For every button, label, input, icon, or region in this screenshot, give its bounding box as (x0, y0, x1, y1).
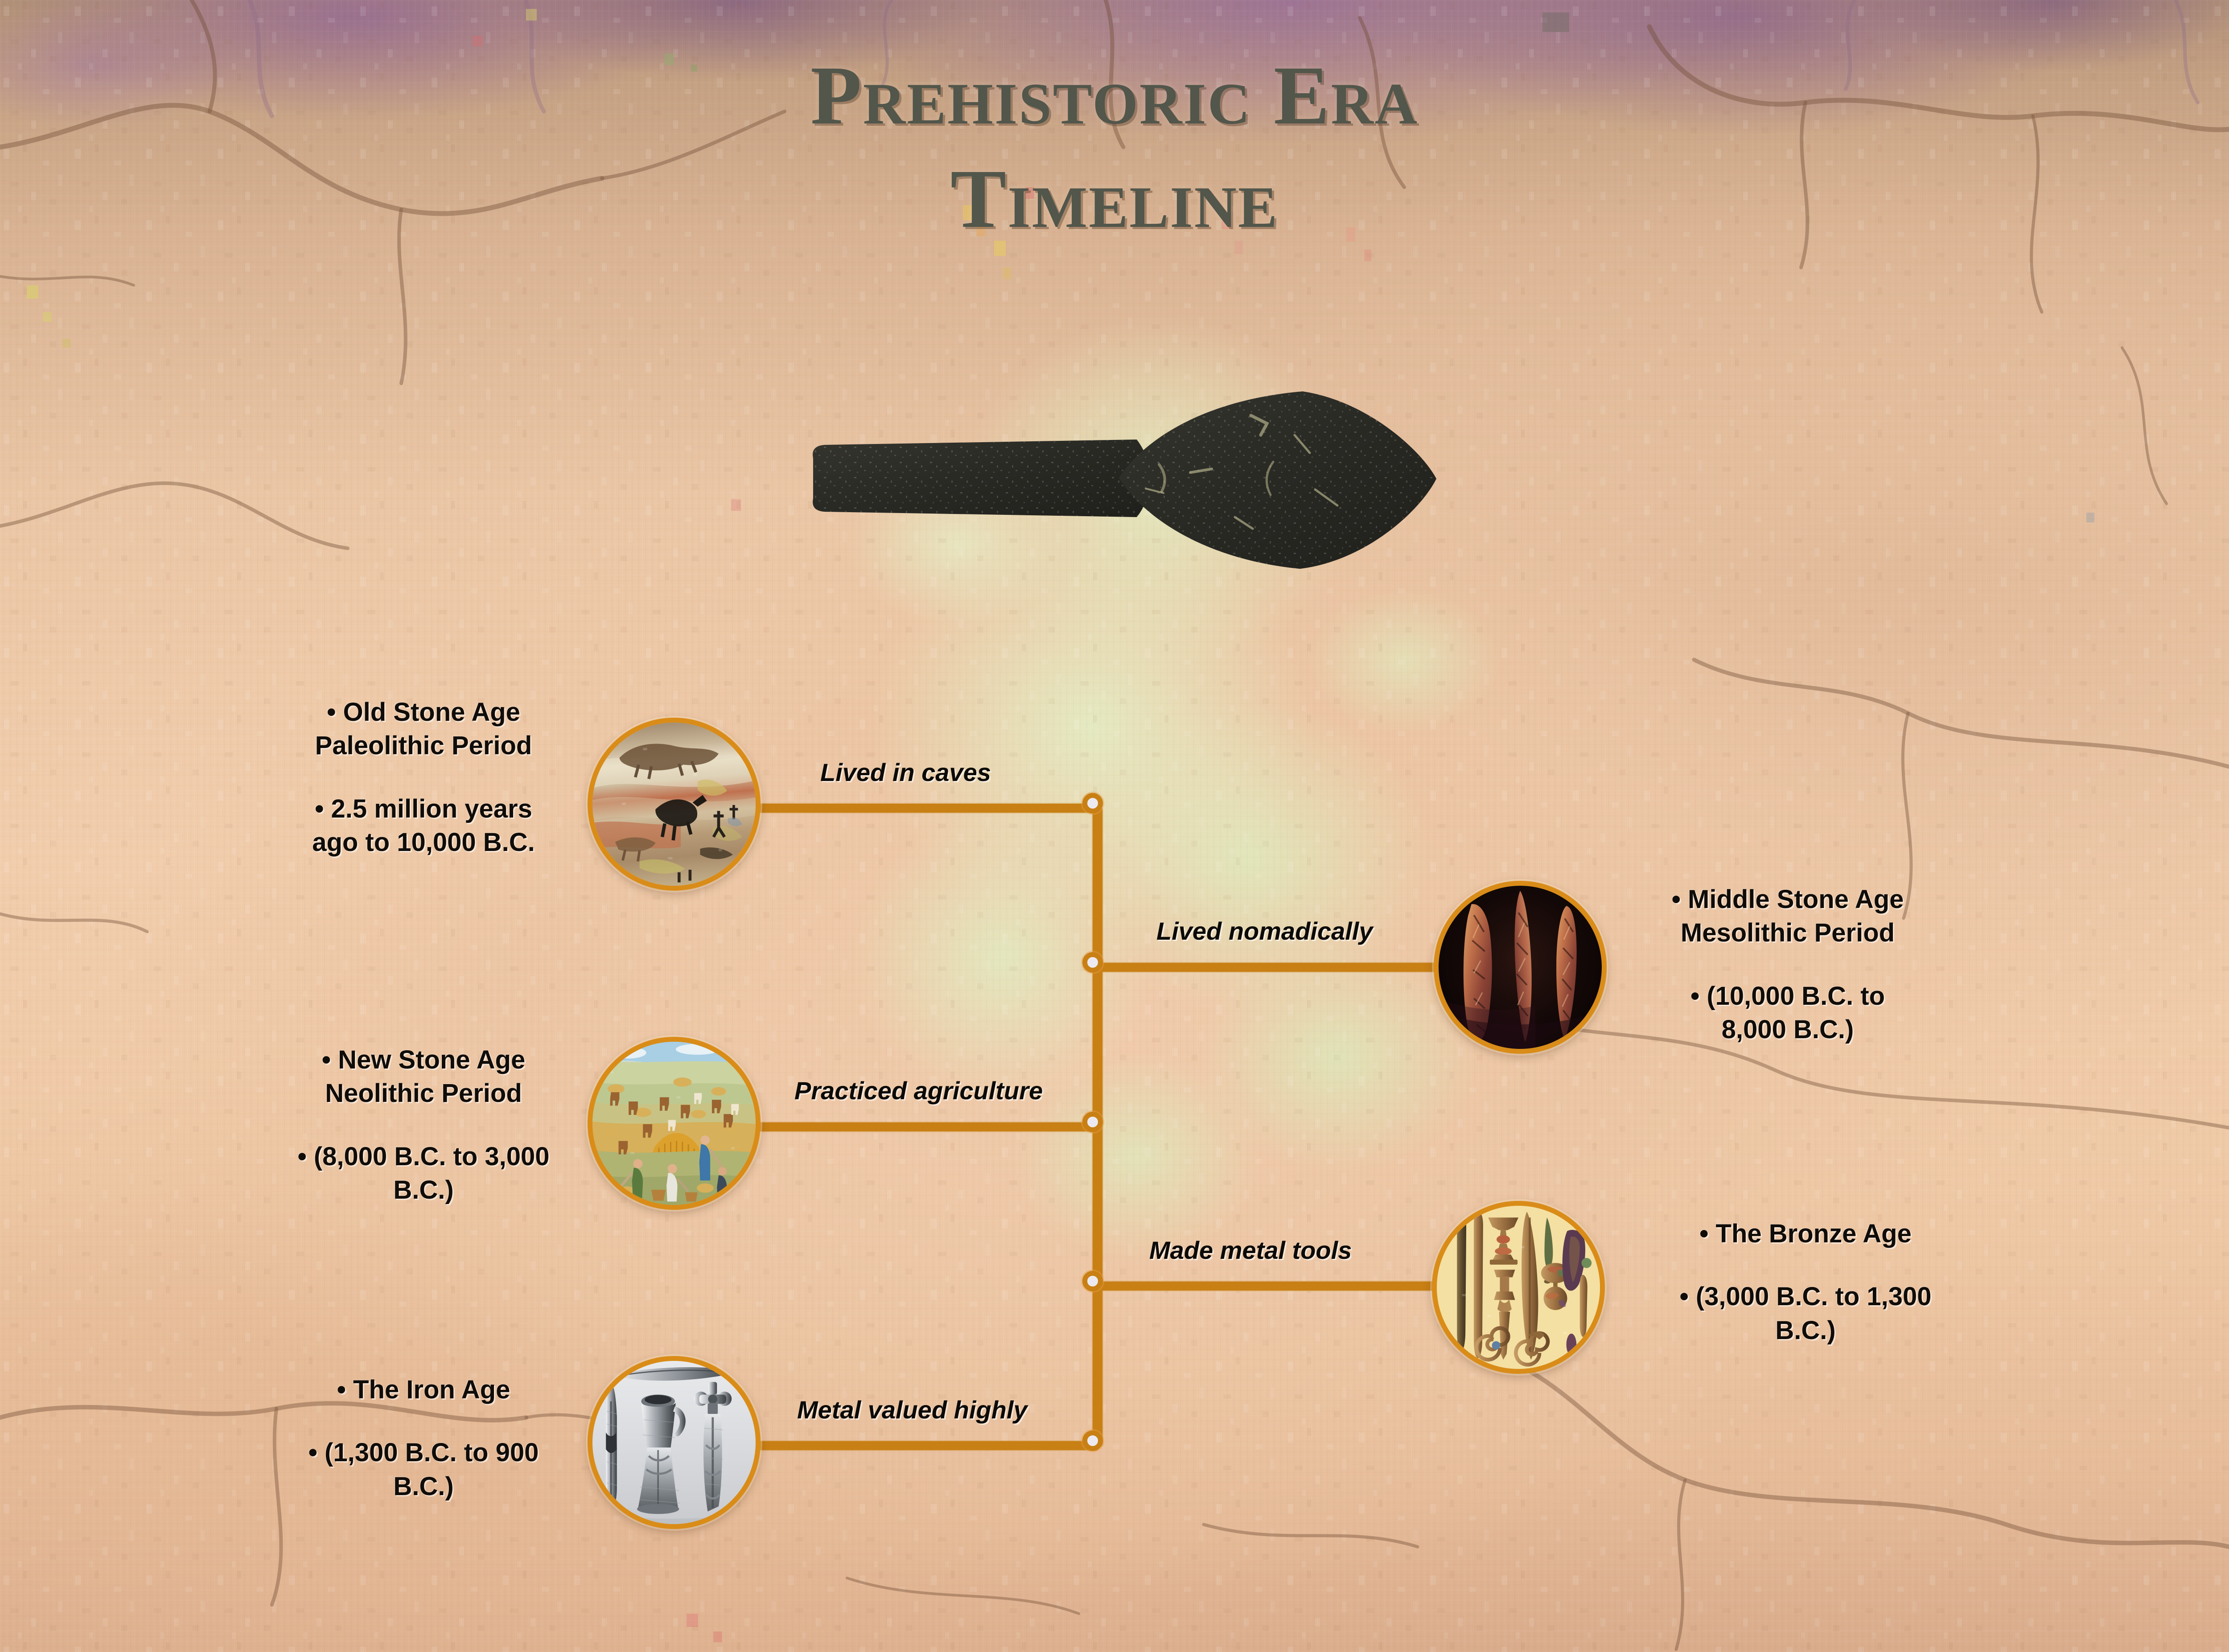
cave-painting-image[interactable] (588, 718, 761, 891)
flint-blades-image[interactable] (1434, 881, 1607, 1054)
neolithic-farming-image[interactable] (588, 1037, 761, 1210)
branch-neolithic (758, 1122, 1098, 1131)
timeline-node-2[interactable] (1082, 952, 1103, 973)
neolithic-name-line-2: Neolithic Period (263, 1077, 584, 1110)
branch-iron-age (758, 1441, 1098, 1450)
iron-age-date-line-2: B.C.) (267, 1470, 580, 1503)
branch-mesolithic (1098, 963, 1435, 972)
poster-canvas: Prehistoric Era Timeline (0, 0, 2229, 1652)
bronze-age-name-line-1: • The Bronze Age (1645, 1217, 1966, 1250)
mesolithic-name-line-2: Mesolithic Period (1632, 916, 1944, 949)
iron-age-name-line-1: • The Iron Age (267, 1373, 580, 1406)
timeline-node-5[interactable] (1082, 1430, 1103, 1451)
period-text-neolithic: • New Stone Age Neolithic Period • (8,00… (263, 1043, 584, 1207)
timeline-node-3[interactable] (1082, 1112, 1103, 1132)
mesolithic-name-line-1: • Middle Stone Age (1632, 883, 1944, 916)
timeline-node-4[interactable] (1082, 1271, 1103, 1291)
bronze-age-date-line-1: • (3,000 B.C. to 1,300 (1645, 1280, 1966, 1313)
edge-label-lived-nomadically: Lived nomadically (1156, 916, 1373, 945)
period-text-iron-age: • The Iron Age • (1,300 B.C. to 900 B.C.… (267, 1373, 580, 1503)
iron-age-date-line-1: • (1,300 B.C. to 900 (267, 1436, 580, 1469)
neolithic-date-line-1: • (8,000 B.C. to 3,000 (263, 1140, 584, 1173)
period-text-paleolithic: • Old Stone Age Paleolithic Period • 2.5… (272, 695, 575, 859)
flint-blade-shapes (1439, 886, 1602, 1049)
paleolithic-name-line-1: • Old Stone Age (272, 695, 575, 729)
period-text-mesolithic: • Middle Stone Age Mesolithic Period • (… (1632, 883, 1944, 1047)
bronze-age-date-line-2: B.C.) (1645, 1314, 1966, 1347)
iron-artifact-shapes (592, 1361, 756, 1524)
timeline-node-1[interactable] (1082, 793, 1103, 814)
edge-label-lived-in-caves: Lived in caves (820, 758, 991, 787)
cave-painting-figures (592, 723, 756, 886)
mesolithic-date-line-2: 8,000 B.C.) (1632, 1013, 1944, 1046)
paleolithic-date-line-2: ago to 10,000 B.C. (272, 826, 575, 859)
iron-artifacts-image[interactable] (588, 1356, 761, 1529)
edge-label-metal-valued-highly: Metal valued highly (797, 1395, 1028, 1424)
edge-label-made-metal-tools: Made metal tools (1149, 1236, 1352, 1265)
branch-bronze-age (1098, 1282, 1435, 1290)
neolithic-farming-scene (592, 1042, 756, 1205)
paleolithic-date-line-1: • 2.5 million years (272, 792, 575, 826)
edge-label-practiced-agriculture: Practiced agriculture (794, 1076, 1043, 1105)
neolithic-name-line-1: • New Stone Age (263, 1043, 584, 1077)
mesolithic-date-line-1: • (10,000 B.C. to (1632, 979, 1944, 1013)
period-text-bronze-age: • The Bronze Age • (3,000 B.C. to 1,300 … (1645, 1217, 1966, 1347)
bronze-artifacts-image[interactable] (1432, 1201, 1605, 1374)
branch-paleolithic (758, 804, 1098, 813)
bronze-artifact-shapes (1437, 1206, 1600, 1369)
neolithic-date-line-2: B.C.) (263, 1173, 584, 1207)
paleolithic-name-line-2: Paleolithic Period (272, 729, 575, 762)
